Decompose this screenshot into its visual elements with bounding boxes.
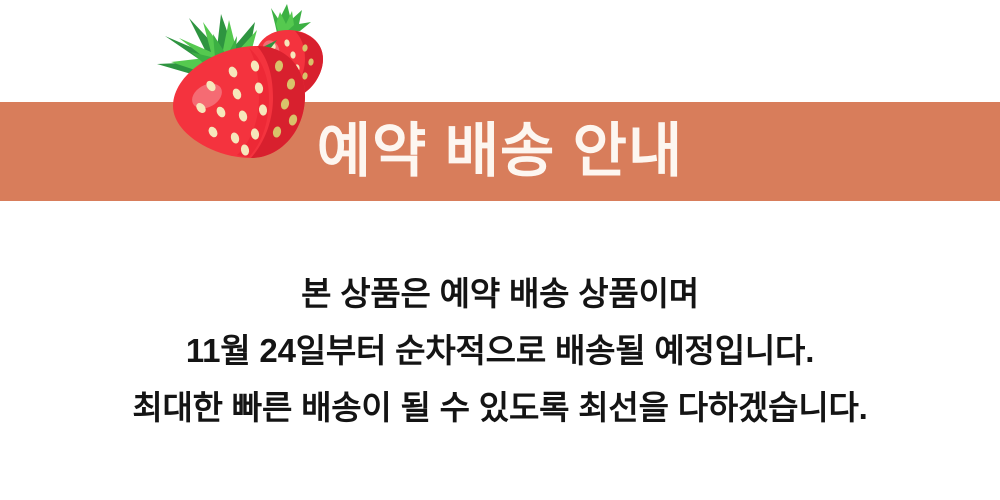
strawberry-icon — [145, 0, 345, 205]
notice-line-2: 11월 24일부터 순차적으로 배송될 예정입니다. — [0, 322, 1000, 379]
notice-line-3: 최대한 빠른 배송이 될 수 있도록 최선을 다하겠습니다. — [0, 379, 1000, 436]
strawberry-illustration — [145, 0, 345, 205]
notice-line-1: 본 상품은 예약 배송 상품이며 — [0, 265, 1000, 322]
delivery-notice-page: 예약 배송 안내 — [0, 0, 1000, 500]
notice-message-block: 본 상품은 예약 배송 상품이며 11월 24일부터 순차적으로 배송될 예정입… — [0, 265, 1000, 436]
